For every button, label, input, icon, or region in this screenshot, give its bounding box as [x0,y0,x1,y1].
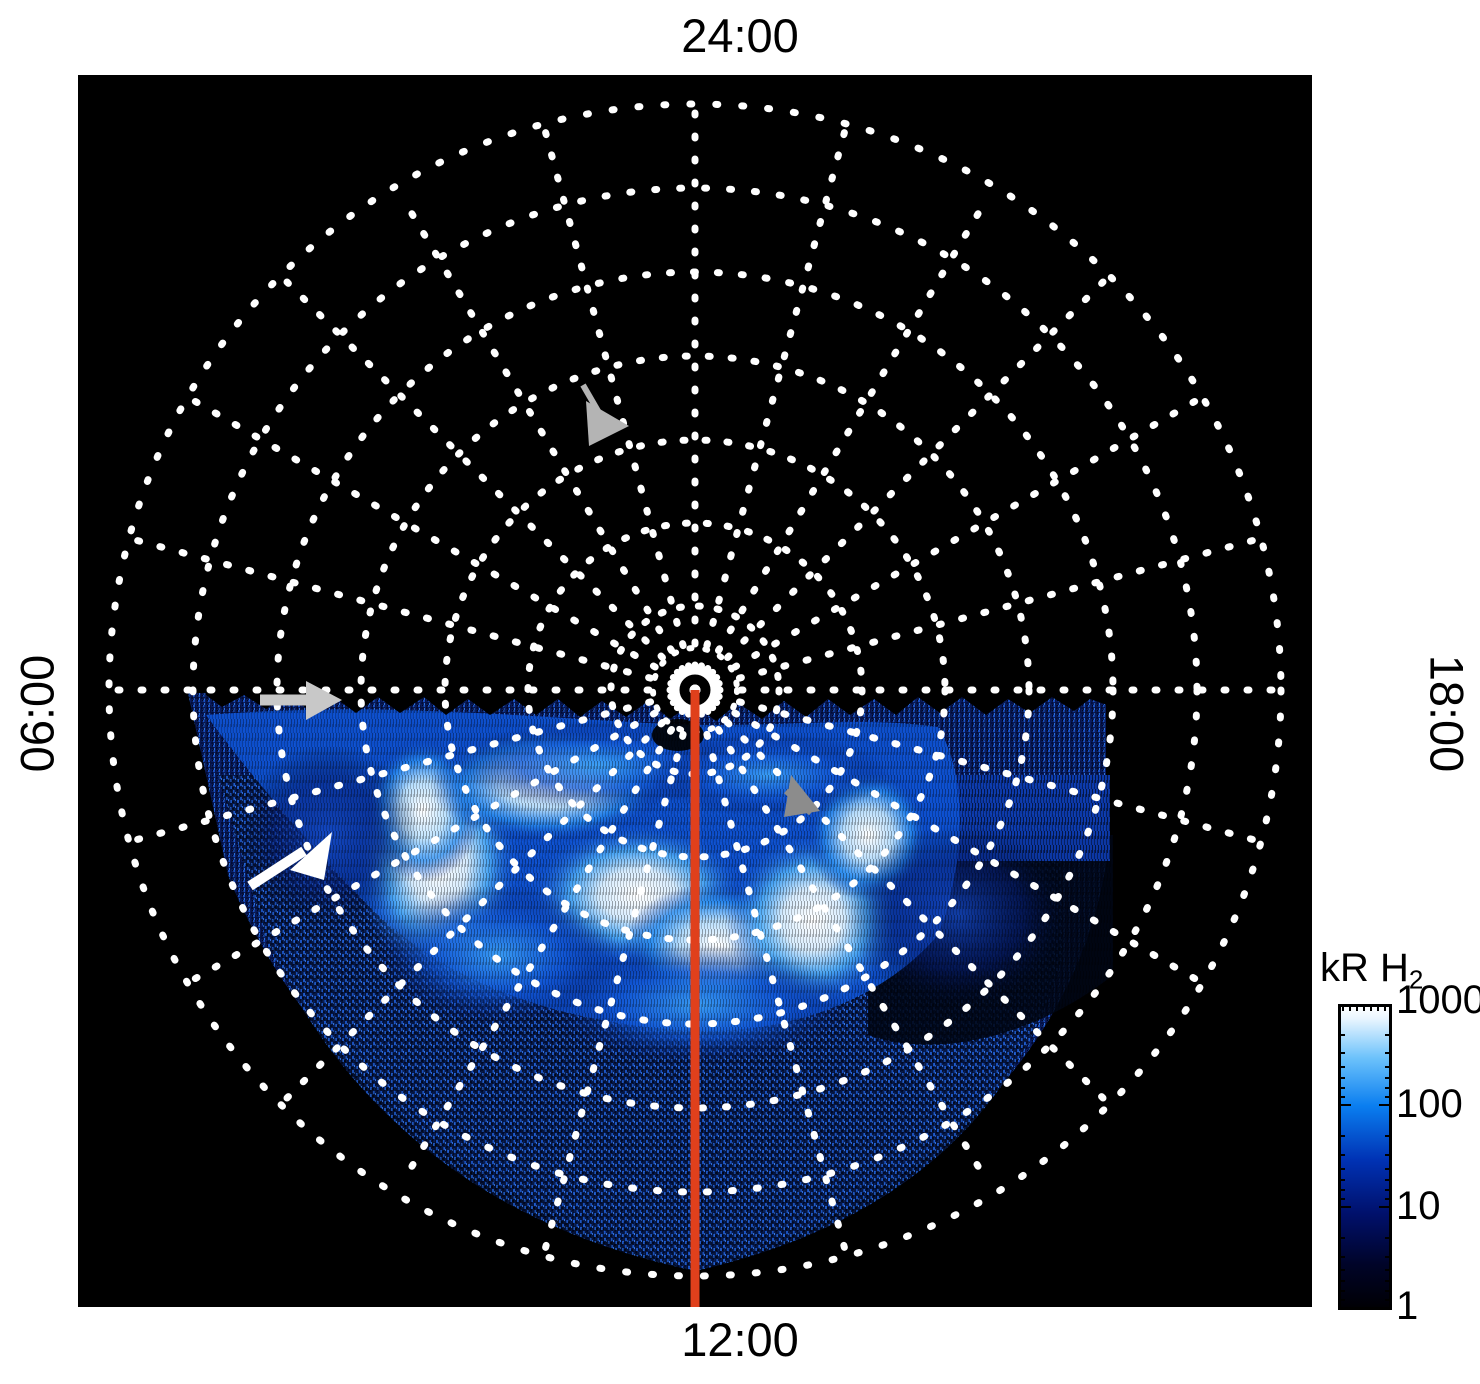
colorbar-minor-tick [1385,1256,1392,1258]
colorbar-minor-tick [1385,1052,1392,1054]
colorbar-label-100: 100 [1396,1084,1463,1124]
polar-plot-canvas [78,75,1312,1307]
axis-label-12-00: 12:00 [0,1316,1480,1363]
colorbar-top-tick [1370,1004,1372,1011]
colorbar-major-tick-1 [1379,1307,1392,1309]
colorbar-minor-tick [1338,1096,1345,1098]
colorbar-minor-tick [1385,1299,1392,1301]
colorbar-minor-tick [1338,1052,1345,1054]
colorbar-minor-tick [1338,1168,1345,1170]
colorbar-minor-tick [1385,1135,1392,1137]
colorbar-minor-tick [1385,1066,1392,1068]
colorbar-top-tick [1363,1004,1365,1011]
colorbar-minor-tick [1338,1280,1345,1282]
colorbar-ticks [1338,1004,1392,1310]
figure-root: 24:00 12:00 06:00 18:00 kR H2 [0,0,1480,1384]
colorbar-minor-tick [1338,1256,1345,1258]
colorbar-minor-tick [1338,1269,1345,1271]
colorbar-major-tick-1000 [1379,1004,1392,1006]
colorbar-major-tick-1000 [1338,1004,1351,1006]
colorbar-minor-tick [1385,1096,1392,1098]
colorbar-minor-tick [1385,1189,1392,1191]
colorbar-minor-tick [1338,1299,1345,1301]
colorbar-minor-tick [1338,1154,1345,1156]
colorbar-minor-tick [1338,1034,1345,1036]
colorbar-label-1000: 1000 [1396,980,1480,1020]
colorbar-minor-tick [1338,1290,1345,1292]
colorbar-minor-tick [1385,1290,1392,1292]
colorbar-minor-tick [1385,1168,1392,1170]
polar-plot-panel [78,75,1312,1307]
colorbar-major-tick-100 [1379,1104,1392,1106]
colorbar-major-tick-1 [1338,1307,1351,1309]
colorbar-minor-tick [1385,1237,1392,1239]
colorbar-minor-tick [1338,1135,1345,1137]
colorbar-minor-tick [1338,1198,1345,1200]
colorbar: kR H2 [1316,948,1480,1320]
colorbar-minor-tick [1338,1237,1345,1239]
colorbar-top-tick [1356,1004,1358,1011]
colorbar-minor-tick [1385,1179,1392,1181]
colorbar-minor-tick [1385,1087,1392,1089]
axis-label-18-00: 18:00 [1424,599,1471,829]
axis-label-24-00: 24:00 [0,12,1480,59]
axis-label-06-00: 06:00 [14,599,61,829]
colorbar-minor-tick [1338,1189,1345,1191]
colorbar-major-tick-100 [1338,1104,1351,1106]
colorbar-minor-tick [1385,1077,1392,1079]
colorbar-minor-tick [1338,1077,1345,1079]
colorbar-minor-tick [1338,1066,1345,1068]
colorbar-minor-tick [1385,1198,1392,1200]
colorbar-label-10: 10 [1396,1186,1441,1226]
colorbar-minor-tick [1385,1269,1392,1271]
colorbar-minor-tick [1385,1280,1392,1282]
colorbar-minor-tick [1338,1179,1345,1181]
colorbar-major-tick-10 [1338,1206,1351,1208]
colorbar-minor-tick [1385,1154,1392,1156]
colorbar-major-tick-10 [1379,1206,1392,1208]
colorbar-minor-tick [1338,1087,1345,1089]
colorbar-minor-tick [1385,1034,1392,1036]
colorbar-label-1: 1 [1396,1286,1418,1326]
